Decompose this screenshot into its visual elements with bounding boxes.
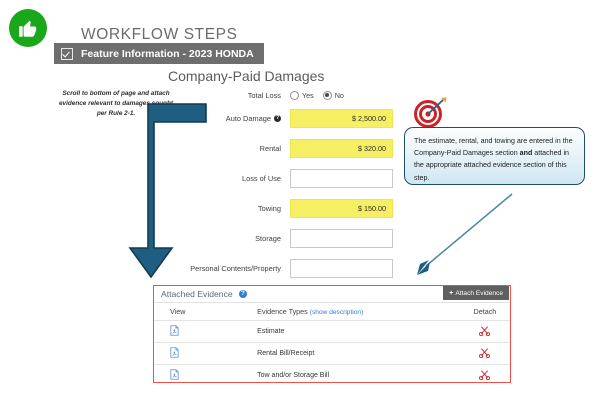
- help-icon[interactable]: ?: [274, 115, 281, 122]
- form-row-total-loss: Total Loss Yes No: [182, 88, 402, 102]
- table-row: Estimate: [154, 321, 510, 343]
- total-loss-option-yes[interactable]: Yes: [290, 91, 314, 100]
- auto-damage-label: Auto Damage ?: [182, 114, 290, 123]
- callout-line-1: The estimate, rental, and towing are ent…: [414, 137, 561, 145]
- personal-contents-label: Personal Contents/Property: [182, 264, 290, 273]
- attached-evidence-title: Attached Evidence: [161, 289, 233, 299]
- column-header-evidence-types: Evidence Types (show description): [257, 303, 460, 321]
- table-header-row: View Evidence Types (show description) D…: [154, 303, 510, 321]
- towing-input[interactable]: $ 150.00: [290, 199, 393, 218]
- bullseye-target-icon: [412, 96, 448, 128]
- view-cell: [154, 365, 257, 387]
- total-loss-no-label: No: [335, 91, 344, 100]
- thumbs-up-icon: [9, 9, 47, 47]
- radio-selected-icon[interactable]: [323, 91, 332, 100]
- pdf-file-icon[interactable]: [170, 369, 179, 380]
- evidence-type-cell: Tow and/or Storage Bill: [257, 365, 460, 387]
- show-description-link[interactable]: (show description): [310, 309, 364, 316]
- auto-damage-input[interactable]: $ 2,500.00: [290, 109, 393, 128]
- evidence-table: View Evidence Types (show description) D…: [154, 303, 510, 386]
- storage-input[interactable]: [290, 229, 393, 248]
- view-cell: [154, 321, 257, 343]
- scissors-icon[interactable]: [479, 369, 490, 380]
- view-cell: [154, 343, 257, 365]
- personal-contents-input[interactable]: [290, 259, 393, 278]
- column-header-view: View: [154, 303, 257, 321]
- column-header-types-text: Evidence Types: [257, 307, 308, 316]
- callout-box: The estimate, rental, and towing are ent…: [404, 127, 585, 185]
- total-loss-yes-label: Yes: [302, 91, 314, 100]
- table-row: Rental Bill/Receipt: [154, 343, 510, 365]
- towing-label: Towing: [182, 204, 290, 213]
- form-row-storage: Storage: [182, 228, 402, 249]
- rental-label: Rental: [182, 144, 290, 153]
- callout-line-2b-bold: and: [520, 149, 533, 157]
- screenshot-canvas: WORKFLOW STEPS Feature Information - 202…: [0, 0, 600, 408]
- detach-cell: [460, 343, 510, 365]
- scissors-icon[interactable]: [479, 347, 490, 358]
- form-row-loss-of-use: Loss of Use: [182, 168, 402, 189]
- detach-cell: [460, 365, 510, 387]
- form-row-rental: Rental $ 320.00: [182, 138, 402, 159]
- loss-of-use-input[interactable]: [290, 169, 393, 188]
- page-title: Company-Paid Damages: [168, 68, 324, 84]
- column-header-detach: Detach: [460, 303, 510, 321]
- plus-icon: +: [449, 289, 453, 296]
- attached-evidence-panel: Attached Evidence ? + Attach Evidence Vi…: [153, 285, 511, 383]
- total-loss-label: Total Loss: [182, 91, 290, 100]
- workflow-steps-title: WORKFLOW STEPS: [81, 26, 238, 44]
- auto-damage-label-text: Auto Damage: [226, 114, 271, 123]
- total-loss-option-no[interactable]: No: [323, 91, 344, 100]
- evidence-type-cell: Rental Bill/Receipt: [257, 343, 460, 365]
- help-icon[interactable]: ?: [239, 290, 248, 299]
- attach-evidence-button[interactable]: + Attach Evidence: [443, 286, 509, 300]
- detach-cell: [460, 321, 510, 343]
- form-row-auto-damage: Auto Damage ? $ 2,500.00: [182, 108, 402, 129]
- feature-information-tab[interactable]: Feature Information - 2023 HONDA: [54, 43, 264, 64]
- pdf-file-icon[interactable]: [170, 325, 179, 336]
- rental-input[interactable]: $ 320.00: [290, 139, 393, 158]
- pdf-file-icon[interactable]: [170, 347, 179, 358]
- form-row-towing: Towing $ 150.00: [182, 198, 402, 219]
- diagonal-pointer-arrow-icon: [412, 190, 522, 278]
- scissors-icon[interactable]: [479, 325, 490, 336]
- callout-text: The estimate, rental, and towing are ent…: [414, 135, 575, 184]
- evidence-type-cell: Estimate: [257, 321, 460, 343]
- total-loss-radio-group[interactable]: Yes No: [290, 91, 344, 100]
- attached-evidence-header: Attached Evidence ? + Attach Evidence: [154, 286, 510, 303]
- checkbox-checked-icon: [61, 48, 73, 60]
- attach-evidence-button-label: Attach Evidence: [455, 290, 503, 297]
- loss-of-use-label: Loss of Use: [182, 174, 290, 183]
- feature-tab-label: Feature Information - 2023 HONDA: [81, 48, 254, 60]
- table-row: Tow and/or Storage Bill: [154, 365, 510, 387]
- radio-unselected-icon[interactable]: [290, 91, 299, 100]
- form-row-personal-contents: Personal Contents/Property: [182, 258, 402, 279]
- company-paid-damages-form: Total Loss Yes No Auto Damage ? $ 2,500.…: [182, 88, 402, 318]
- storage-label: Storage: [182, 234, 290, 243]
